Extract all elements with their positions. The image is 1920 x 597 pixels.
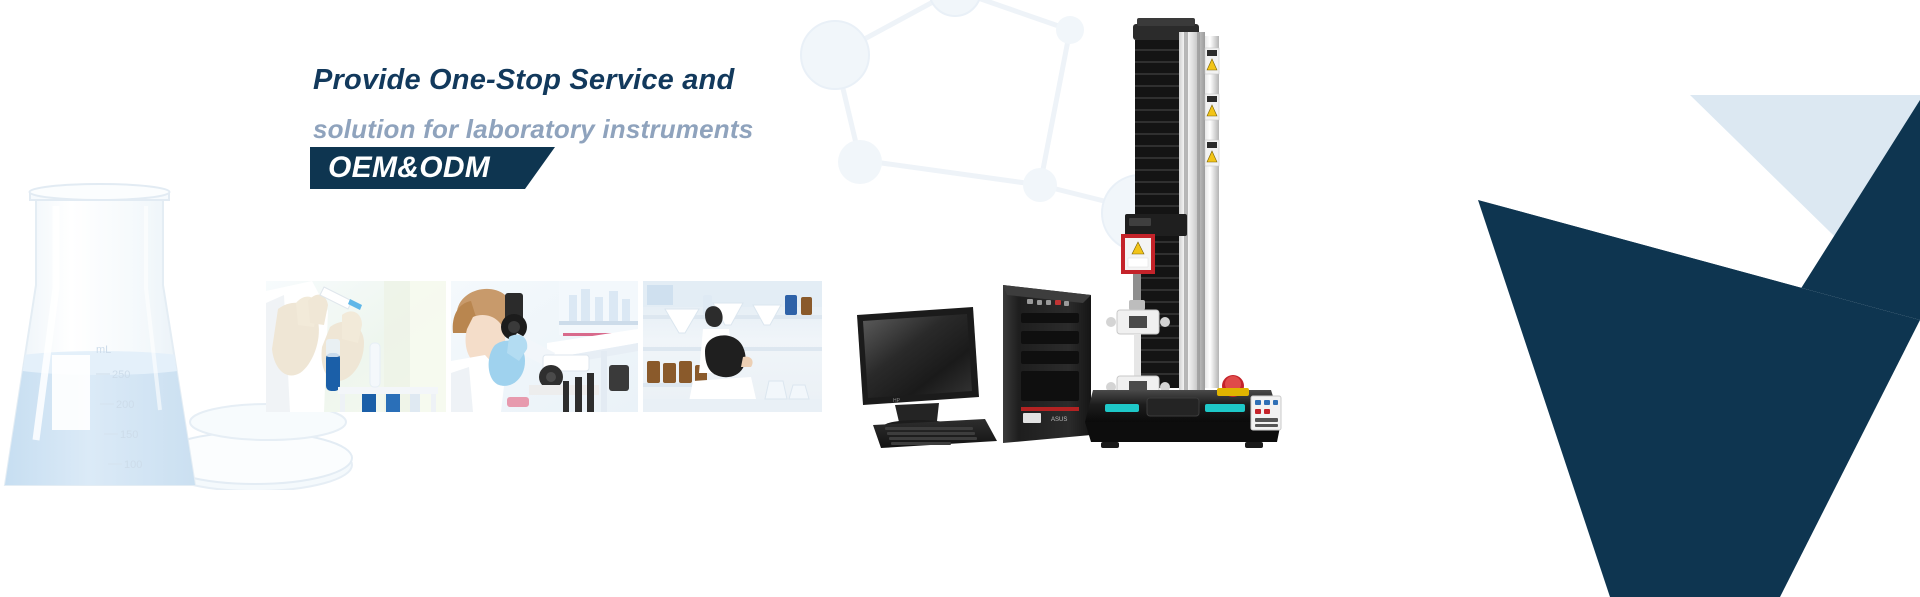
dark-triangle-tail — [1478, 200, 1920, 597]
flask-graduation-ml: mL — [96, 344, 111, 356]
product-1-caption: Desktop monitor, tower PC and keyboard c… — [0, 0, 1, 1]
warning-label — [1205, 48, 1219, 166]
flask-graduation-200: 200 — [116, 399, 134, 411]
photo-1-caption: Technician in white coat pipetting blue … — [0, 0, 1, 1]
tensile-tester-icon — [1085, 18, 1295, 448]
headline-block: Provide One-Stop Service and solution fo… — [313, 57, 913, 152]
headline-line-2: solution for laboratory instruments — [313, 106, 913, 152]
svg-text:HP: HP — [893, 398, 901, 404]
lab-photo-strip — [266, 281, 822, 412]
pipetting-photo — [266, 281, 446, 412]
flask-graduation-250: 250 — [112, 369, 130, 381]
photo-2-caption: Researcher looking through a laboratory … — [0, 0, 1, 1]
flask-graduation-150: 150 — [120, 429, 138, 441]
decorative-triangles — [1400, 0, 1920, 597]
lab-bench-photo — [643, 281, 822, 412]
photo-3-caption: Scientists working at a laboratory bench… — [0, 0, 1, 1]
desktop-computer-icon: HP ASUS — [855, 285, 1115, 450]
ribbon-label: OEM&ODM — [328, 147, 490, 189]
oem-odm-ribbon: OEM&ODM — [310, 147, 555, 189]
product-2-caption: Single-column universal tensile testing … — [0, 0, 1, 1]
hero-banner: mL 250 200 150 100 Provide One-Stop Serv… — [0, 0, 1920, 597]
svg-text:ASUS: ASUS — [1051, 417, 1067, 423]
dark-triangle-shape — [1478, 100, 1920, 320]
light-triangle-shape — [1690, 95, 1920, 320]
microscope-photo — [451, 281, 638, 412]
flask-graduation-100: 100 — [124, 459, 142, 471]
headline-line-1: Provide One-Stop Service and — [313, 57, 913, 103]
